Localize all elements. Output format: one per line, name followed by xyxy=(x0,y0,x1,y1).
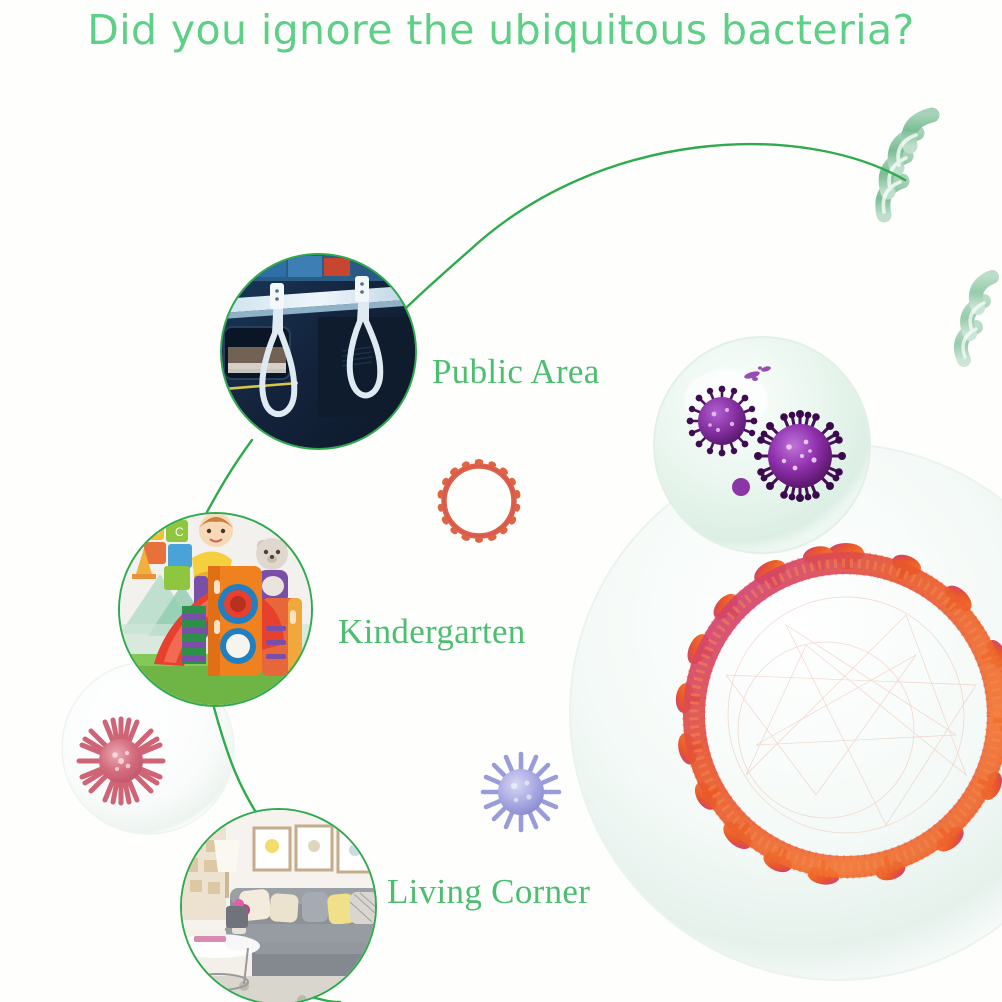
purple-virus-small xyxy=(687,386,758,457)
living-room-sofa-photo xyxy=(182,810,375,1002)
scene-label-kindergarten: Kindergarten xyxy=(338,612,526,652)
scene-photo-living-corner[interactable] xyxy=(180,808,377,1002)
background-artwork xyxy=(0,0,1002,1002)
green-spiral-bacteria-bottom xyxy=(961,277,992,360)
playground-slide-photo: A C xyxy=(120,514,311,705)
orange-ring-virus-small xyxy=(437,459,521,543)
green-spiral-bacteria-top xyxy=(883,115,932,215)
poster-canvas: Did you ignore the ubiquitous bacteria? xyxy=(0,0,1002,1002)
scene-label-living-corner: Living Corner xyxy=(387,872,590,912)
purple-virus-large xyxy=(754,410,846,502)
lavender-virus xyxy=(483,754,559,830)
public-transit-hand-straps-photo xyxy=(222,255,415,448)
red-virus xyxy=(79,719,163,803)
scene-label-public-area: Public Area xyxy=(432,352,600,392)
scene-photo-kindergarten[interactable]: A C xyxy=(118,512,313,707)
purple-virus-dot xyxy=(732,478,750,496)
page-title: Did you ignore the ubiquitous bacteria? xyxy=(0,6,1002,54)
svg-text:A: A xyxy=(151,523,159,537)
svg-text:C: C xyxy=(175,525,184,539)
scene-photo-public-area[interactable] xyxy=(220,253,417,450)
